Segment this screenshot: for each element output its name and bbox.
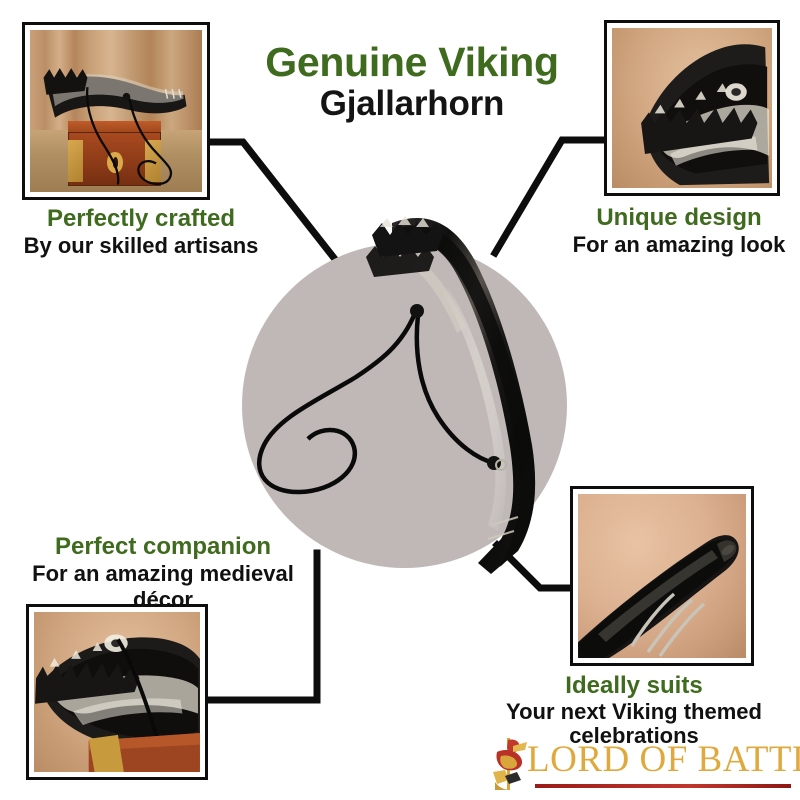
feature-image-bottom-right[interactable] [570, 486, 754, 666]
feature-subtext-top-right: For an amazing look [560, 232, 798, 258]
photo-horn-tip-closeup [578, 494, 746, 658]
feature-heading-bottom-right: Ideally suits [468, 672, 800, 700]
leather-cord [259, 313, 494, 492]
feature-heading-top-right: Unique design [560, 204, 798, 232]
title-line-2: Gjallarhorn [212, 84, 612, 123]
watermark-logo: LORD OF BATTLES [483, 736, 795, 794]
feature-image-top-right[interactable] [604, 20, 780, 196]
photo-horn-on-box [30, 30, 202, 192]
page-title: Genuine Viking Gjallarhorn [212, 40, 612, 123]
title-line-1: Genuine Viking [212, 40, 612, 84]
feature-image-bottom-left[interactable] [26, 604, 208, 780]
watermark-text: LORD OF BATTLES [527, 738, 800, 781]
cord-fitting-bottom [487, 456, 501, 470]
photo-horn-rim-closeup [612, 28, 772, 188]
feature-caption-bottom-left: Perfect companion For an amazing medieva… [2, 533, 324, 613]
horn-serrated-rim [366, 222, 443, 277]
feature-image-top-left[interactable] [22, 22, 210, 200]
watermark-rule [535, 784, 791, 788]
feature-subtext-bottom-left: For an amazing medieval décor [2, 561, 324, 613]
infographic-canvas: Genuine Viking Gjallarhorn [0, 0, 800, 800]
cord-fitting-top [410, 304, 424, 318]
feature-heading-bottom-left: Perfect companion [2, 533, 324, 561]
feature-subtext-top-left: By our skilled artisans [10, 233, 272, 259]
photo-horn-rim-on-box [34, 612, 200, 772]
feature-heading-top-left: Perfectly crafted [10, 205, 272, 233]
feature-caption-top-right: Unique design For an amazing look [560, 204, 798, 258]
feature-caption-top-left: Perfectly crafted By our skilled artisan… [10, 205, 272, 259]
